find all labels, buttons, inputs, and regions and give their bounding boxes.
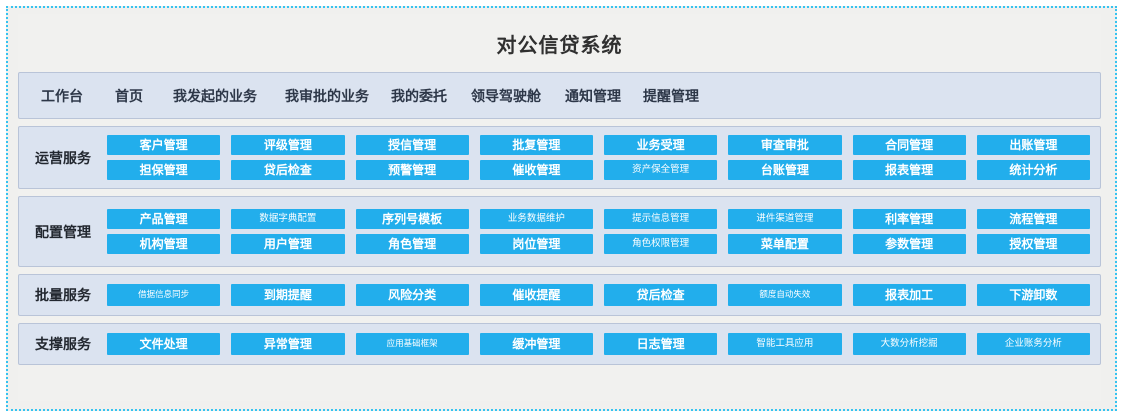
service-button[interactable]: 用户管理 xyxy=(231,234,344,254)
service-button[interactable]: 台账管理 xyxy=(728,160,841,180)
service-button[interactable]: 出账管理 xyxy=(977,135,1090,155)
service-button[interactable]: 提示信息管理 xyxy=(604,209,717,229)
service-button[interactable]: 机构管理 xyxy=(107,234,220,254)
service-button[interactable]: 催收提醒 xyxy=(480,284,593,306)
service-button[interactable]: 担保管理 xyxy=(107,160,220,180)
service-button[interactable]: 审查审批 xyxy=(728,135,841,155)
service-button[interactable]: 缓冲管理 xyxy=(480,333,593,355)
service-group-yunyingfuwu: 运营服务客户管理评级管理授信管理批复管理业务受理审查审批合同管理出账管理担保管理… xyxy=(18,126,1101,189)
service-button[interactable]: 应用基础框架 xyxy=(356,333,469,355)
service-button[interactable]: 风险分类 xyxy=(356,284,469,306)
service-button[interactable]: 合同管理 xyxy=(853,135,966,155)
service-button[interactable]: 评级管理 xyxy=(231,135,344,155)
service-group-button-grid: 客户管理评级管理授信管理批复管理业务受理审查审批合同管理出账管理担保管理贷后检查… xyxy=(107,135,1090,180)
service-group-label: 支撑服务 xyxy=(19,333,107,355)
service-group-pilianqufuwu: 批量服务借据信息同步到期提醒风险分类催收提醒贷后检查额度自动失效报表加工下游卸数 xyxy=(18,274,1101,316)
service-group-button-grid: 产品管理数据字典配置序列号模板业务数据维护提示信息管理进件渠道管理利率管理流程管… xyxy=(107,209,1090,254)
service-group-label: 批量服务 xyxy=(19,284,107,306)
service-group-button-grid: 文件处理异常管理应用基础框架缓冲管理日志管理智能工具应用大数分析挖掘企业账务分析 xyxy=(107,333,1090,355)
service-groups-container: 运营服务客户管理评级管理授信管理批复管理业务受理审查审批合同管理出账管理担保管理… xyxy=(18,126,1101,365)
title-bar: 对公信贷系统 xyxy=(18,14,1101,72)
service-button[interactable]: 下游卸数 xyxy=(977,284,1090,306)
nav-item-7[interactable]: 提醒管理 xyxy=(643,86,699,106)
service-button[interactable]: 参数管理 xyxy=(853,234,966,254)
service-button[interactable]: 角色管理 xyxy=(356,234,469,254)
service-button[interactable]: 借据信息同步 xyxy=(107,284,220,306)
service-button[interactable]: 文件处理 xyxy=(107,333,220,355)
service-button[interactable]: 岗位管理 xyxy=(480,234,593,254)
service-button[interactable]: 异常管理 xyxy=(231,333,344,355)
service-button[interactable]: 授信管理 xyxy=(356,135,469,155)
service-button[interactable]: 日志管理 xyxy=(604,333,717,355)
service-button[interactable]: 智能工具应用 xyxy=(728,333,841,355)
service-button[interactable]: 序列号模板 xyxy=(356,209,469,229)
main-navigation-bar: 工作台首页我发起的业务我审批的业务我的委托领导驾驶舱通知管理提醒管理 xyxy=(18,72,1101,119)
service-button[interactable]: 贷后检查 xyxy=(604,284,717,306)
nav-item-3[interactable]: 我审批的业务 xyxy=(285,86,369,106)
service-group-label: 运营服务 xyxy=(19,135,107,180)
page-surface: 对公信贷系统 工作台首页我发起的业务我审批的业务我的委托领导驾驶舱通知管理提醒管… xyxy=(18,14,1101,401)
nav-item-6[interactable]: 通知管理 xyxy=(565,86,621,106)
service-button[interactable]: 客户管理 xyxy=(107,135,220,155)
service-button[interactable]: 批复管理 xyxy=(480,135,593,155)
service-group-peizhiguanli: 配置管理产品管理数据字典配置序列号模板业务数据维护提示信息管理进件渠道管理利率管… xyxy=(18,196,1101,267)
service-button[interactable]: 到期提醒 xyxy=(231,284,344,306)
service-button[interactable]: 企业账务分析 xyxy=(977,333,1090,355)
service-button[interactable]: 预警管理 xyxy=(356,160,469,180)
service-button[interactable]: 额度自动失效 xyxy=(728,284,841,306)
service-button[interactable]: 角色权限管理 xyxy=(604,234,717,254)
service-group-zhichengfuwu: 支撑服务文件处理异常管理应用基础框架缓冲管理日志管理智能工具应用大数分析挖掘企业… xyxy=(18,323,1101,365)
service-button[interactable]: 产品管理 xyxy=(107,209,220,229)
app-frame: 对公信贷系统 工作台首页我发起的业务我审批的业务我的委托领导驾驶舱通知管理提醒管… xyxy=(6,6,1117,411)
nav-item-0[interactable]: 工作台 xyxy=(41,86,83,106)
nav-item-5[interactable]: 领导驾驶舱 xyxy=(471,86,541,106)
service-group-button-grid: 借据信息同步到期提醒风险分类催收提醒贷后检查额度自动失效报表加工下游卸数 xyxy=(107,284,1090,306)
service-group-label: 配置管理 xyxy=(19,209,107,254)
nav-item-2[interactable]: 我发起的业务 xyxy=(173,86,257,106)
service-button[interactable]: 数据字典配置 xyxy=(231,209,344,229)
service-button[interactable]: 催收管理 xyxy=(480,160,593,180)
service-button[interactable]: 授权管理 xyxy=(977,234,1090,254)
page-title: 对公信贷系统 xyxy=(497,29,623,58)
service-button[interactable]: 流程管理 xyxy=(977,209,1090,229)
service-button[interactable]: 报表加工 xyxy=(853,284,966,306)
service-button[interactable]: 统计分析 xyxy=(977,160,1090,180)
nav-item-1[interactable]: 首页 xyxy=(115,86,143,106)
service-button[interactable]: 菜单配置 xyxy=(728,234,841,254)
nav-item-4[interactable]: 我的委托 xyxy=(391,86,447,106)
service-button[interactable]: 报表管理 xyxy=(853,160,966,180)
service-button[interactable]: 业务数据维护 xyxy=(480,209,593,229)
service-button[interactable]: 大数分析挖掘 xyxy=(853,333,966,355)
service-button[interactable]: 进件渠道管理 xyxy=(728,209,841,229)
service-button[interactable]: 利率管理 xyxy=(853,209,966,229)
service-button[interactable]: 贷后检查 xyxy=(231,160,344,180)
service-button[interactable]: 业务受理 xyxy=(604,135,717,155)
service-button[interactable]: 资产保全管理 xyxy=(604,160,717,180)
